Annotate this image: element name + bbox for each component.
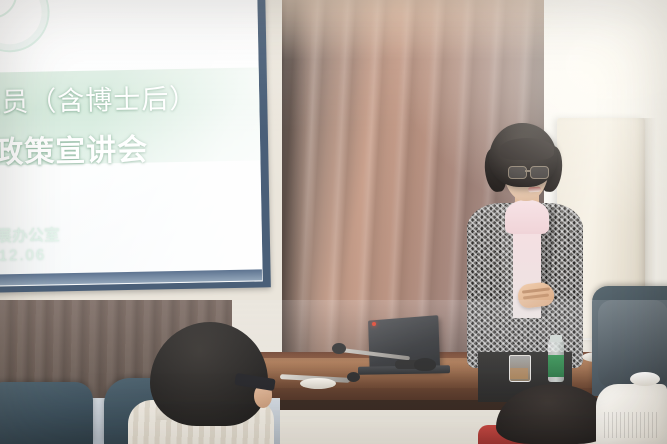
far-right-texture xyxy=(604,412,660,438)
speaker-fringe xyxy=(500,138,554,160)
speaker-mouth xyxy=(528,187,541,193)
eyeglasses-lens-right-icon xyxy=(530,166,549,179)
computer-mouse xyxy=(414,358,436,371)
glass-liquid xyxy=(510,368,528,379)
curtain-highlight-top xyxy=(282,0,544,60)
small-plate xyxy=(300,378,336,389)
eyeglasses-lens-left-icon xyxy=(508,166,527,179)
projection-screen: 人员（含博士后） 聘政策宣讲会 发展办公室 9.12.06 xyxy=(0,0,263,287)
speaker-turtleneck-collar xyxy=(505,200,549,234)
photo-scene: 人员（含博士后） 聘政策宣讲会 发展办公室 9.12.06 xyxy=(0,0,667,444)
microphone-capsule xyxy=(332,343,346,354)
bottle-cap xyxy=(550,335,562,342)
far-right-cup xyxy=(630,372,660,386)
chair-front-left xyxy=(0,382,93,444)
laptop-status-led-icon xyxy=(372,322,376,326)
eyeglasses-bridge-icon xyxy=(525,170,530,172)
bottle-label xyxy=(548,355,564,377)
screen-glare xyxy=(0,0,263,287)
